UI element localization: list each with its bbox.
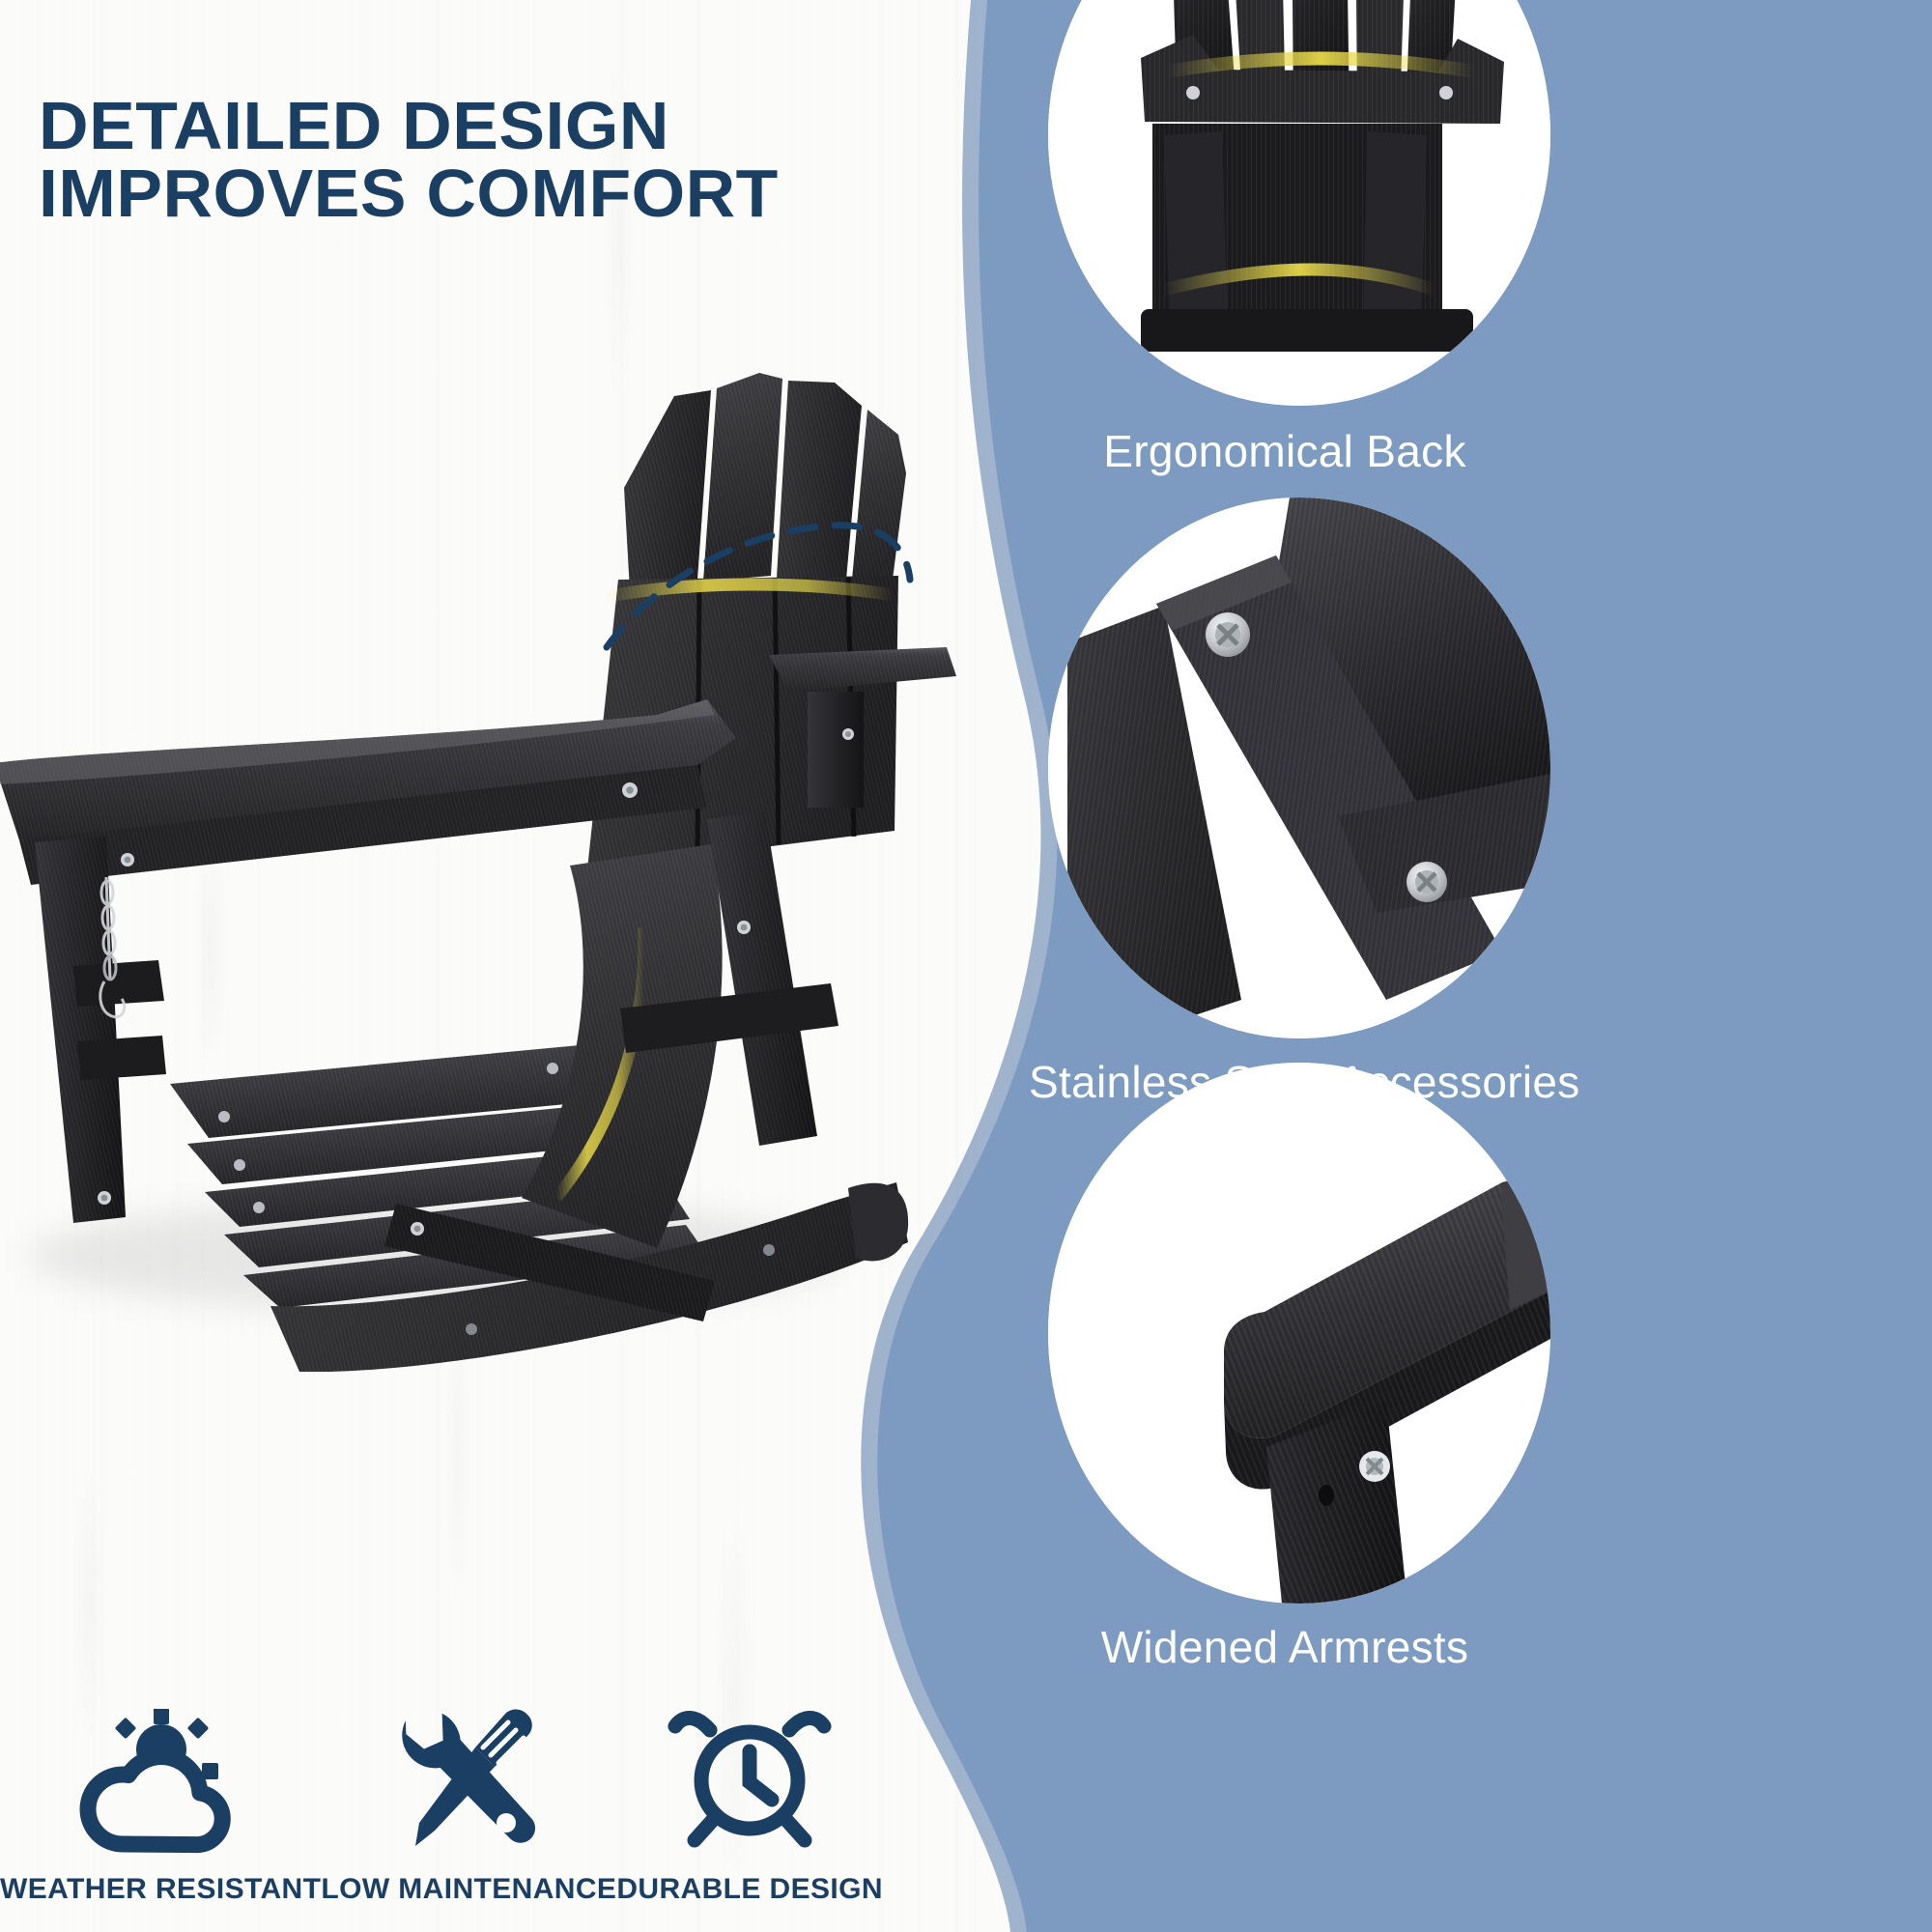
alarm-clock-icon	[668, 1709, 832, 1854]
chair-seat-frame	[522, 844, 723, 1248]
feature-label-low-maintenance: LOW MAINTENANCE	[321, 1873, 616, 1906]
callout-image-widened-armrests	[1048, 1063, 1550, 1604]
callout-image-ergonomical-back	[1048, 0, 1550, 406]
callout-caption-ergonomical-back: Ergonomical Back	[1034, 425, 1536, 477]
feature-label-durable-design: DURABLE DESIGN	[616, 1873, 883, 1906]
page-title: DETAILED DESIGN IMPROVES COMFORT	[39, 92, 925, 227]
feature-label-weather-resistant: WEATHER RESISTANT	[0, 1873, 321, 1906]
chair-front-leg-left	[35, 837, 166, 1223]
callout-caption-widened-armrests: Widened Armrests	[1034, 1621, 1536, 1673]
wrench-screwdriver-icon	[386, 1709, 551, 1854]
stainless-bolt	[1206, 612, 1250, 657]
feature-weather-resistant: WEATHER RESISTANT	[0, 1686, 321, 1927]
callout-ergonomical-back: Ergonomical Back	[1048, 0, 1550, 406]
page-title-line-2: IMPROVES COMFORT	[39, 159, 925, 227]
infographic-canvas: DETAILED DESIGN IMPROVES COMFORT	[0, 0, 1932, 1932]
feature-highlights-row: WEATHER RESISTANT	[0, 1686, 869, 1927]
feature-low-maintenance: LOW MAINTENANCE	[321, 1686, 616, 1927]
sun-cloud-icon	[78, 1709, 242, 1854]
callout-widened-armrests: Widened Armrests	[1048, 1063, 1550, 1604]
feature-durable-design: DURABLE DESIGN	[616, 1686, 883, 1927]
main-product-image	[0, 290, 956, 1372]
callout-image-stainless-steel	[1048, 497, 1550, 1038]
stainless-bolt	[1406, 862, 1447, 902]
callout-stainless-steel: Stainless Steel Accessories	[1048, 497, 1550, 1038]
page-title-line-1: DETAILED DESIGN	[39, 92, 925, 159]
